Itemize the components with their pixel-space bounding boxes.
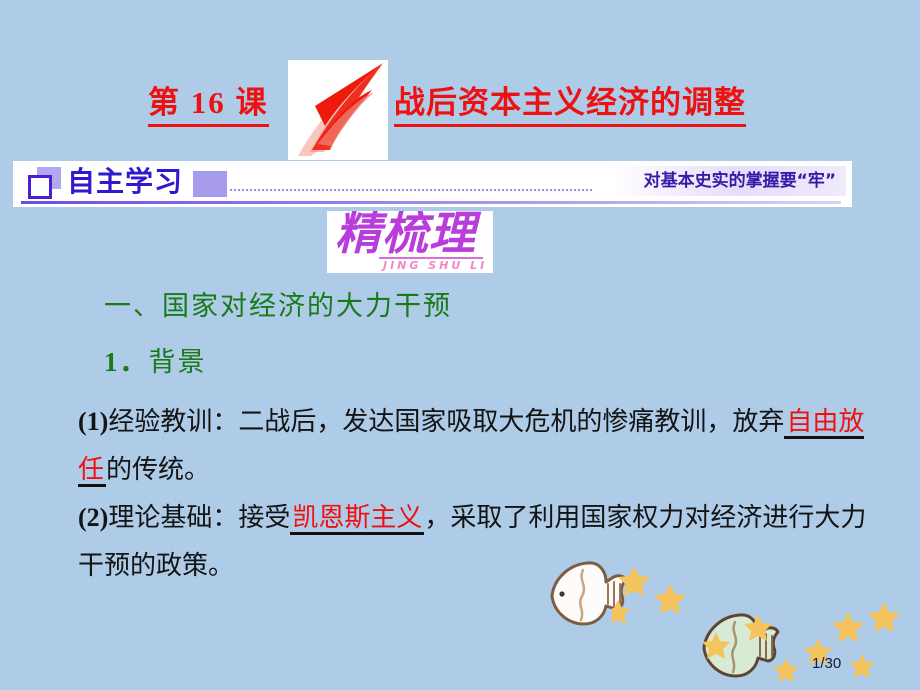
page-number: 1/30 bbox=[812, 655, 841, 673]
banner-accent-block bbox=[193, 171, 227, 197]
double-square-icon bbox=[25, 167, 63, 201]
banner-dotted-rule bbox=[229, 187, 593, 193]
paragraph-2-lead: (2) bbox=[78, 503, 108, 532]
lesson-title-label: 战后资本主义经济的调整 bbox=[394, 84, 746, 127]
star-icon bbox=[612, 562, 912, 687]
section-banner: 自主学习 对基本史实的掌握要“牢” bbox=[13, 161, 852, 207]
slide-title-row: 第 16 课 战后资本主义经济的调整 bbox=[0, 58, 920, 162]
content-heading-1: 一、国家对经济的大力干预 bbox=[104, 288, 452, 324]
paragraph-1-after: 的传统。 bbox=[106, 455, 210, 484]
jingshuli-title-first: 精梳理 bbox=[335, 211, 476, 260]
paragraph-1: (1)经验教训：二战后，发达国家吸取大危机的惨痛教训，放弃自由放任的传统。 bbox=[78, 398, 878, 494]
banner-title-label: 自主学习 bbox=[67, 164, 183, 200]
content-heading-2-text: 背景 bbox=[149, 347, 207, 377]
banner-underline-rule bbox=[21, 201, 841, 204]
red-swoosh-icon bbox=[288, 60, 388, 160]
banner-tagline: 对基本史实的掌握要“牢” bbox=[610, 166, 846, 196]
jingshuli-logo: 精梳理 JING SHU LI bbox=[327, 211, 493, 273]
paragraph-2-blank: 凯恩斯主义 bbox=[290, 503, 424, 535]
jingshuli-pinyin: JING SHU LI bbox=[383, 259, 487, 272]
content-heading-2-number: 1． bbox=[104, 347, 149, 377]
paragraph-1-lead: (1) bbox=[78, 407, 108, 436]
content-heading-2: 1．背景 bbox=[104, 344, 207, 380]
paragraph-2-before: 理论基础：接受 bbox=[108, 503, 290, 532]
slide-canvas: 第 16 课 战后资本主义经济的调整 自主学习 对基本史实的掌握要“ bbox=[0, 0, 920, 690]
lesson-number-label: 第 16 课 bbox=[148, 84, 269, 127]
paragraph-1-before: 经验教训：二战后，发达国家吸取大危机的惨痛教训，放弃 bbox=[108, 407, 784, 436]
jingshuli-title: 精梳理 bbox=[335, 211, 476, 260]
